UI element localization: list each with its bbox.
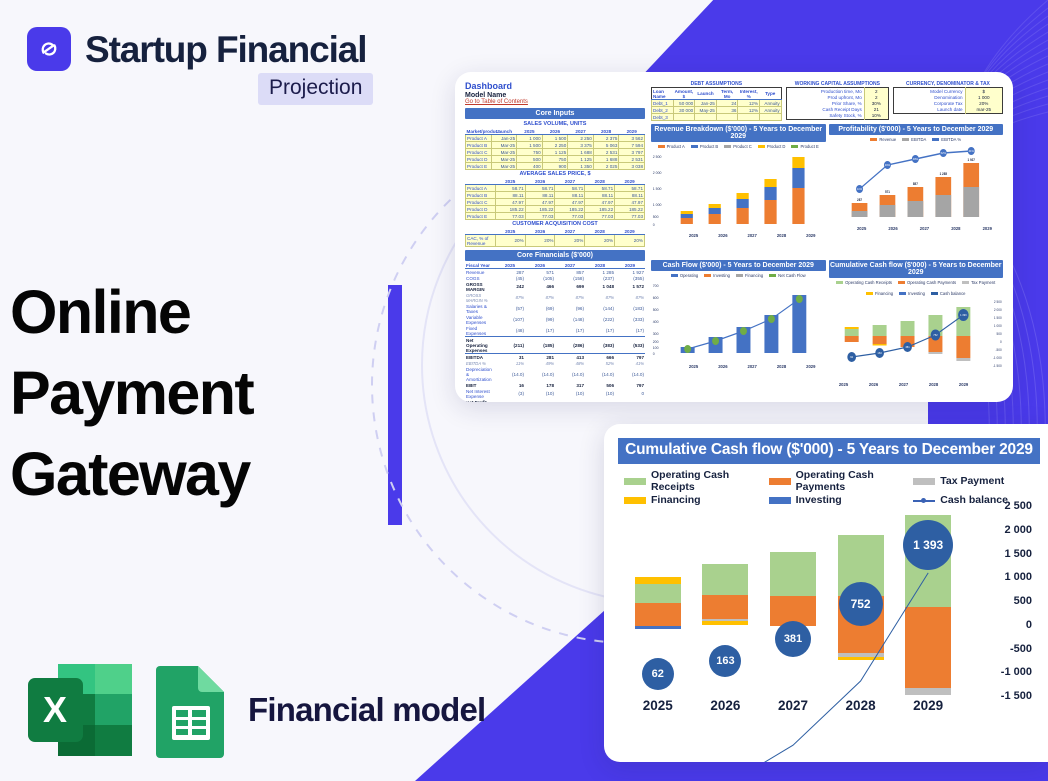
svg-text:-500: -500 — [995, 348, 1001, 352]
table-of-contents-link[interactable]: Go to Table of Contents — [465, 99, 645, 105]
brand-badge: Projection — [258, 73, 373, 105]
dashboard-subtitle: Model Name — [465, 92, 645, 99]
mini-chart-legend: RevenueEBITDAEBITDA % — [829, 136, 1004, 143]
legend-swatch — [932, 138, 939, 141]
x-tick-label: 2029 — [806, 233, 815, 238]
format-badges: X Financial model — [26, 662, 485, 758]
cell-value: 87% — [525, 292, 555, 303]
row-label: Fixed Expenses — [465, 325, 495, 337]
table-row: Product CMar-257501 1251 6882 5313 797 — [466, 149, 645, 156]
svg-text:600: 600 — [653, 296, 659, 300]
cell-value: Jan-25 — [491, 135, 517, 142]
cell-value: 500 — [517, 156, 543, 163]
mini-chart-x-labels: 20252026202720282029 — [651, 364, 826, 369]
mini-chart-title: Cumulative Cash flow ($'000) - 5 Years t… — [829, 260, 1004, 278]
table-row: Product EMar-254009001 3502 0253 038 — [466, 163, 645, 170]
legend-swatch — [913, 478, 935, 485]
currency-box: CURRENCY, DENOMINATOR & TAX Model Curren… — [893, 81, 1003, 121]
x-tick-label: 2028 — [777, 364, 786, 369]
row-label: Safety Stock, % — [786, 113, 864, 120]
row-label: Product B — [466, 192, 496, 199]
cell-value: (144) — [585, 303, 615, 314]
cell-value: (383) — [585, 337, 615, 354]
x-tick-label: 2027 — [899, 382, 908, 387]
svg-text:11%: 11% — [857, 187, 862, 191]
table-row: Fixed Expenses(48)(17)(17)(17)(17) — [465, 325, 645, 337]
cell-value: 20% — [585, 235, 615, 247]
cumulative-cash-flow-chart-card[interactable]: Cumulative Cash flow ($'000) - 5 Years t… — [604, 424, 1048, 762]
cell-value: 88.11 — [525, 192, 555, 199]
x-tick-label: 2025 — [689, 233, 698, 238]
cell-value: 47.97 — [495, 199, 525, 206]
cell-value: Mar-25 — [491, 156, 517, 163]
table-row: Variable Expenses(107)(99)(148)(222)(333… — [465, 314, 645, 325]
legend-item: Operating Cash Payments — [898, 280, 956, 285]
y-tick-label: -1 000 — [1001, 666, 1032, 678]
sales-volume-table: Market/productLaunch20252026202720282029… — [465, 128, 645, 170]
cell-value: 3 797 — [619, 149, 645, 156]
cell-value: (10) — [555, 388, 585, 399]
legend-label: Product D — [767, 144, 786, 149]
legend-swatch — [724, 145, 731, 148]
google-sheets-icon — [154, 662, 228, 758]
cell-value: (183) — [615, 303, 645, 314]
svg-text:2 000: 2 000 — [993, 308, 1001, 312]
cell-value: 77.03 — [585, 213, 615, 220]
cell-value: (48) — [495, 325, 525, 337]
legend-swatch — [866, 292, 873, 295]
cell-value: 47.97 — [525, 199, 555, 206]
cell-value: 1 048 — [585, 281, 615, 292]
legend-item: Investing — [704, 273, 730, 278]
row-label: Variable Expenses — [465, 314, 495, 325]
chart-title: Cumulative Cash flow ($'000) - 5 Years t… — [618, 438, 1040, 464]
cash-balance-marker[interactable]: 752 — [839, 582, 883, 626]
row-label: Debt_2 — [652, 107, 674, 114]
legend-item: EBITDA — [902, 137, 926, 142]
svg-text:100: 100 — [653, 346, 659, 350]
cell-value: 87% — [495, 292, 525, 303]
legend-label: Financing — [875, 291, 893, 296]
legend-swatch — [899, 292, 906, 295]
cell-value: (14.0) — [615, 366, 645, 382]
cell-value[interactable]: mar-25 — [965, 107, 1002, 114]
cell-value: (14.0) — [495, 366, 525, 382]
legend-label: Product C — [733, 144, 752, 149]
cell-value: 77.03 — [525, 213, 555, 220]
legend-swatch — [704, 274, 711, 277]
cell-value: (99) — [525, 314, 555, 325]
x-tick-label: 2025 — [857, 226, 866, 231]
mini-chart-cash-flow[interactable]: Cash Flow ($'000) - 5 Years to December … — [651, 260, 826, 393]
table-row: Product DMar-255007501 1251 6882 531 — [466, 156, 645, 163]
x-tick-label: 2027 — [920, 226, 929, 231]
y-tick-label: -500 — [1010, 643, 1032, 655]
cell-value: 185.22 — [525, 206, 555, 213]
cell-value: (333) — [615, 314, 645, 325]
microsoft-excel-icon: X — [26, 662, 134, 758]
row-label: Net Interest Expense — [465, 388, 495, 399]
cell-value: 88.11 — [585, 192, 615, 199]
mini-chart-cumulative-cash-flow[interactable]: Cumulative Cash flow ($'000) - 5 Years t… — [829, 260, 1004, 393]
table-row: Product D185.22185.22185.22185.22185.22 — [466, 206, 645, 213]
table-row: Net Profit Before Tax13168317506797 — [465, 399, 645, 402]
cell-value: 900 — [542, 163, 568, 170]
cumulative-cash-flow-bars: 2 5002 0001 500 1 0005000 -500-1 000-1 5… — [829, 297, 1004, 377]
cell-value: 58.71 — [555, 185, 585, 192]
table-row: Salaries & Taxes(57)(69)(96)(144)(183) — [465, 303, 645, 314]
cell-value: 185.22 — [585, 206, 615, 213]
cell-value: (107) — [495, 314, 525, 325]
x-tick-label: 2029 — [806, 364, 815, 369]
cell-value: 400 — [517, 163, 543, 170]
legend-label: Financing — [745, 273, 763, 278]
svg-text:1 000: 1 000 — [993, 324, 1001, 328]
cell-value[interactable]: $ — [965, 88, 1002, 95]
y-tick-label: 1 500 — [1004, 548, 1032, 560]
cell-value: 58.71 — [615, 185, 645, 192]
legend-item: Operating Cash Receipts — [836, 280, 892, 285]
svg-text:41%: 41% — [968, 149, 974, 153]
legend-swatch — [691, 145, 698, 148]
legend-swatch — [962, 281, 969, 284]
table-row: Launch datemar-25 — [893, 107, 1002, 114]
dashboard-preview-card[interactable]: Dashboard Model Name Go to Table of Cont… — [455, 72, 1013, 402]
debt-assumptions-table: Loan NameAmount, $LaunchTerm, MoInterest… — [651, 87, 782, 121]
svg-text:1 500: 1 500 — [653, 187, 662, 191]
table-row: Debt_3 — [652, 114, 782, 121]
cell-value: (69) — [525, 303, 555, 314]
row-label: GROSS MARGIN — [465, 281, 495, 292]
legend-label: Cash balance — [940, 494, 1008, 506]
svg-text:2 500: 2 500 — [653, 155, 662, 159]
legend-swatch — [902, 138, 909, 141]
working-capital-table: Production time, Mo2Prod upfront, Mo2Pri… — [786, 87, 889, 120]
row-label: Depreciation & Amortization — [465, 366, 495, 382]
cell-value: 699 — [555, 281, 585, 292]
cell-value: 20% — [555, 235, 585, 247]
y-tick-label: 2 500 — [1004, 500, 1032, 512]
legend-swatch — [758, 145, 765, 148]
cash-balance-marker[interactable]: 381 — [775, 621, 811, 657]
legend-label: Revenue — [879, 137, 896, 142]
column-header: Amount, $ — [673, 88, 695, 100]
cell-value: 20% — [615, 235, 645, 247]
cell-value: 242 — [495, 281, 525, 292]
cac-band: CUSTOMER ACQUISITION COST — [465, 220, 645, 228]
cell-value: 3 375 — [568, 142, 594, 149]
y-tick-label: 2 000 — [1004, 524, 1032, 536]
cell-value: 2 375 — [593, 135, 619, 142]
row-label: Product C — [466, 199, 496, 206]
legend-label: EBITDA % — [941, 137, 961, 142]
legend-item: Product D — [758, 144, 786, 149]
cash-balance-marker[interactable]: 163 — [709, 645, 741, 677]
mini-chart-revenue-breakdown[interactable]: Revenue Breakdown ($'000) - 5 Years to D… — [651, 124, 826, 257]
svg-text:1 500: 1 500 — [993, 316, 1001, 320]
cell-value: 87% — [555, 292, 585, 303]
row-label: GROSS MARGIN % — [465, 292, 495, 303]
legend-label: Operating Cash Receipts — [845, 280, 892, 285]
cell-value: (17) — [615, 325, 645, 337]
legend-item: Financing — [736, 273, 763, 278]
cell-value: 88.11 — [495, 192, 525, 199]
dashboard-inputs-column: Dashboard Model Name Go to Table of Cont… — [465, 81, 645, 393]
brand-title: Startup Financial — [85, 31, 366, 68]
cash-balance-polyline — [658, 573, 928, 762]
table-row: Safety Stock, %10% — [786, 113, 888, 120]
legend-item: Product C — [724, 144, 752, 149]
cell-value: 2 250 — [542, 142, 568, 149]
legend-swatch — [736, 274, 743, 277]
cell-value: 30 000 — [673, 107, 695, 114]
cash-balance-marker[interactable]: 1 393 — [903, 520, 953, 570]
mini-chart-legend: OperatingInvestingFinancingNet Cash Flow — [651, 272, 826, 279]
row-label: Production time, Mo — [786, 88, 864, 95]
legend-label: Operating Cash Payments — [796, 469, 908, 493]
x-tick-label: 2026 — [718, 364, 727, 369]
dashboard-charts-column: DEBT ASSUMPTIONS Loan NameAmount, $Launc… — [651, 81, 1003, 393]
legend-swatch — [769, 274, 776, 277]
cell-value[interactable]: 2 — [864, 88, 888, 95]
legend-label: Operating Cash Payments — [907, 280, 956, 285]
chart-bars-layer: 621633817521 393 — [624, 512, 962, 696]
cell-value — [760, 114, 782, 121]
mini-chart-title: Cash Flow ($'000) - 5 Years to December … — [651, 260, 826, 271]
cell-value: 58.71 — [495, 185, 525, 192]
svg-text:0: 0 — [653, 223, 655, 227]
legend-swatch — [931, 292, 938, 295]
legend-label: Tax Payment — [940, 475, 1004, 487]
svg-text:500: 500 — [653, 215, 659, 219]
legend-swatch — [658, 145, 665, 148]
svg-text:500: 500 — [996, 332, 1001, 336]
cell-value: 506 — [585, 399, 615, 402]
cell-value: 2 531 — [593, 149, 619, 156]
legend-swatch — [769, 478, 791, 485]
legend-item: Financing — [624, 494, 763, 506]
cell-value: (286) — [555, 337, 585, 354]
cell-value: 1 572 — [615, 281, 645, 292]
cell-value: 58.71 — [585, 185, 615, 192]
legend-swatch — [624, 478, 646, 485]
cell-value: Annuity — [760, 100, 782, 107]
brand-logo-icon — [27, 27, 71, 71]
x-tick-label: 2026 — [869, 382, 878, 387]
legend-swatch — [624, 497, 646, 504]
cell-value: Annuity — [760, 107, 782, 114]
legend-item: Investing — [899, 291, 925, 296]
legend-item: Tax Payment — [913, 469, 1038, 493]
page-title-line-3: Gateway — [10, 434, 253, 515]
x-tick-label: 2025 — [839, 382, 848, 387]
table-row: Product A58.7158.7158.7158.7158.71 — [466, 185, 645, 192]
cell-value: (222) — [585, 314, 615, 325]
page-title-line-2: Payment — [10, 353, 253, 434]
svg-text:1 927: 1 927 — [967, 158, 975, 162]
cash-balance-marker[interactable]: 62 — [642, 658, 674, 690]
cell-value: 5 063 — [593, 142, 619, 149]
cell-value[interactable]: 10% — [864, 113, 888, 120]
table-row: GROSS MARGIN %87%87%87%87%87% — [465, 292, 645, 303]
svg-text:287: 287 — [857, 198, 862, 202]
working-capital-box: WORKING CAPITAL ASSUMPTIONS Production t… — [786, 81, 889, 121]
cell-value: 1 688 — [568, 149, 594, 156]
cell-value: (17) — [585, 325, 615, 337]
y-tick-label: 0 — [1026, 619, 1032, 631]
x-tick-label: 2028 — [929, 382, 938, 387]
table-row: Depreciation & Amortization(14.0)(14.0)(… — [465, 366, 645, 382]
svg-text:300: 300 — [653, 332, 659, 336]
chart-y-axis: 2 5002 0001 5001 0005000-500-1 000-1 500 — [964, 506, 1036, 696]
svg-text:1 285: 1 285 — [939, 172, 947, 176]
legend-label: Cash balance — [940, 291, 966, 296]
legend-label: Investing — [713, 273, 730, 278]
legend-label: Product B — [700, 144, 718, 149]
legend-swatch — [769, 497, 791, 504]
legend-item: EBITDA % — [932, 137, 961, 142]
svg-text:2 000: 2 000 — [653, 171, 662, 175]
cell-value: 2 531 — [619, 156, 645, 163]
table-row: CAC, % of Revenue20%20%20%20%20% — [466, 235, 645, 247]
svg-text:49%: 49% — [884, 163, 890, 167]
cell-value: (96) — [555, 303, 585, 314]
cell-value: 466 — [525, 281, 555, 292]
mini-chart-plot: 700600500 400300200 1000 — [651, 279, 826, 369]
cell-value: 77.03 — [615, 213, 645, 220]
cell-value: Jan-25 — [695, 100, 717, 107]
debt-assumptions-box: DEBT ASSUMPTIONS Loan NameAmount, $Launc… — [651, 81, 782, 121]
legend-label: EBITDA — [911, 137, 926, 142]
legend-label: Investing — [796, 494, 842, 506]
x-tick-label: 2026 — [718, 233, 727, 238]
svg-text:0: 0 — [1000, 340, 1002, 344]
table-row: Product AJan-251 0001 5002 2502 3753 562 — [466, 135, 645, 142]
cell-value: (14.0) — [585, 366, 615, 382]
mini-chart-profitability[interactable]: Profitability ($'000) - 5 Years to Decem… — [829, 124, 1004, 257]
legend-item: Cash balance — [931, 291, 966, 296]
x-tick-label: 2028 — [951, 226, 960, 231]
sales-volume-band: SALES VOLUME, UNITS — [465, 120, 645, 128]
average-price-band: AVERAGE SALES PRICE, $ — [465, 170, 645, 178]
svg-text:571: 571 — [884, 190, 889, 194]
row-label: Product A — [466, 135, 492, 142]
row-label: Launch date — [893, 107, 965, 114]
poster-canvas: Startup Financial Projection Online Paym… — [0, 0, 1048, 781]
x-tick-label: 2028 — [777, 233, 786, 238]
x-tick-label: 2027 — [748, 364, 757, 369]
table-row: Product BMar-251 5002 2503 3755 0637 594 — [466, 142, 645, 149]
mini-chart-plot: 2 5002 0001 500 1 0005000 -500-1 000-1 5… — [829, 297, 1004, 387]
cell-value: (211) — [495, 337, 525, 354]
cell-value — [673, 114, 695, 121]
column-header: Loan Name — [652, 88, 674, 100]
cell-value: 1 500 — [517, 142, 543, 149]
table-row: Debt_230 000May-253612%Annuity — [652, 107, 782, 114]
linked-e-logo-icon — [36, 36, 62, 62]
mini-chart-plot: 2 5002 0001 500 1 0005000 — [651, 150, 826, 238]
cell-value: 1 125 — [542, 149, 568, 156]
table-row: Model Currency$ — [893, 88, 1002, 95]
row-label: Salaries & Taxes — [465, 303, 495, 314]
table-header-row: Loan NameAmount, $LaunchTerm, MoInterest… — [652, 88, 782, 100]
mini-chart-x-labels: 20252026202720282029 — [651, 233, 826, 238]
legend-label: Financing — [651, 494, 701, 506]
row-label: Product E — [466, 213, 496, 220]
legend-item: Product A — [658, 144, 685, 149]
cell-value: 2 025 — [593, 163, 619, 170]
legend-item: Tax Payment — [962, 280, 995, 285]
cell-value: 2 250 — [568, 135, 594, 142]
mini-chart-legend: Operating Cash ReceiptsOperating Cash Pa… — [829, 279, 1004, 297]
cell-value: 47.97 — [585, 199, 615, 206]
cell-value: 77.03 — [555, 213, 585, 220]
cell-value: 36 — [716, 107, 738, 114]
cell-value: (10) — [585, 388, 615, 399]
cell-value: 88.11 — [615, 192, 645, 199]
cell-value: 58.71 — [525, 185, 555, 192]
legend-swatch — [836, 281, 843, 284]
table-row: Product E77.0377.0377.0377.0377.03 — [466, 213, 645, 220]
cash-flow-bars: 700600500 400300200 1000 — [651, 279, 826, 359]
currency-table: Model Currency$Denomination1 000Corporat… — [893, 87, 1003, 114]
dashboard-title: Dashboard — [465, 81, 645, 92]
table-row: GROSS MARGIN2424666991 0481 572 — [465, 281, 645, 292]
page-title-line-1: Online — [10, 272, 253, 353]
row-label: CAC, % of Revenue — [466, 235, 496, 247]
cell-value: 1 000 — [517, 135, 543, 142]
legend-item: Operating Cash Payments — [769, 469, 908, 493]
cell-value — [716, 114, 738, 121]
row-label: Net Profit Before Tax — [465, 399, 495, 402]
row-label: Product A — [466, 185, 496, 192]
cell-value: 20% — [525, 235, 555, 247]
cell-value: 87% — [615, 292, 645, 303]
table-body: Production time, Mo2Prod upfront, Mo2Pri… — [786, 88, 888, 120]
row-label: Product D — [466, 156, 492, 163]
legend-label: Operating — [680, 273, 698, 278]
average-price-table: 20252026202720282029 Product A58.7158.71… — [465, 178, 645, 220]
row-label: Debt_3 — [652, 114, 674, 121]
legend-item: Product E — [791, 144, 818, 149]
legend-swatch — [913, 497, 935, 504]
cell-value: 1 125 — [568, 156, 594, 163]
legend-swatch — [671, 274, 678, 277]
cell-value: 185.22 — [495, 206, 525, 213]
legend-label: Net Cash Flow — [778, 273, 805, 278]
cell-value: (3) — [495, 388, 525, 399]
cell-value: 77.03 — [495, 213, 525, 220]
table-body: CAC, % of Revenue20%20%20%20%20% — [466, 235, 645, 247]
cell-value: 50 000 — [673, 100, 695, 107]
cell-value: Mar-25 — [491, 163, 517, 170]
currency-box-header: CURRENCY, DENOMINATOR & TAX — [893, 81, 1003, 87]
column-header: Term, Mo — [716, 88, 738, 100]
row-label: Product E — [466, 163, 492, 170]
svg-text:48%: 48% — [912, 157, 918, 161]
cell-value: (17) — [525, 325, 555, 337]
row-label: Model Currency — [893, 88, 965, 95]
legend-swatch — [898, 281, 905, 284]
cell-value: (57) — [495, 303, 525, 314]
legend-item: Operating — [671, 273, 698, 278]
core-inputs-band: Core Inputs — [465, 108, 645, 119]
cell-value: (10) — [525, 388, 555, 399]
table-row: Production time, Mo2 — [786, 88, 888, 95]
mini-chart-title: Revenue Breakdown ($'000) - 5 Years to D… — [651, 124, 826, 142]
cell-value — [738, 114, 760, 121]
legend-swatch — [791, 145, 798, 148]
